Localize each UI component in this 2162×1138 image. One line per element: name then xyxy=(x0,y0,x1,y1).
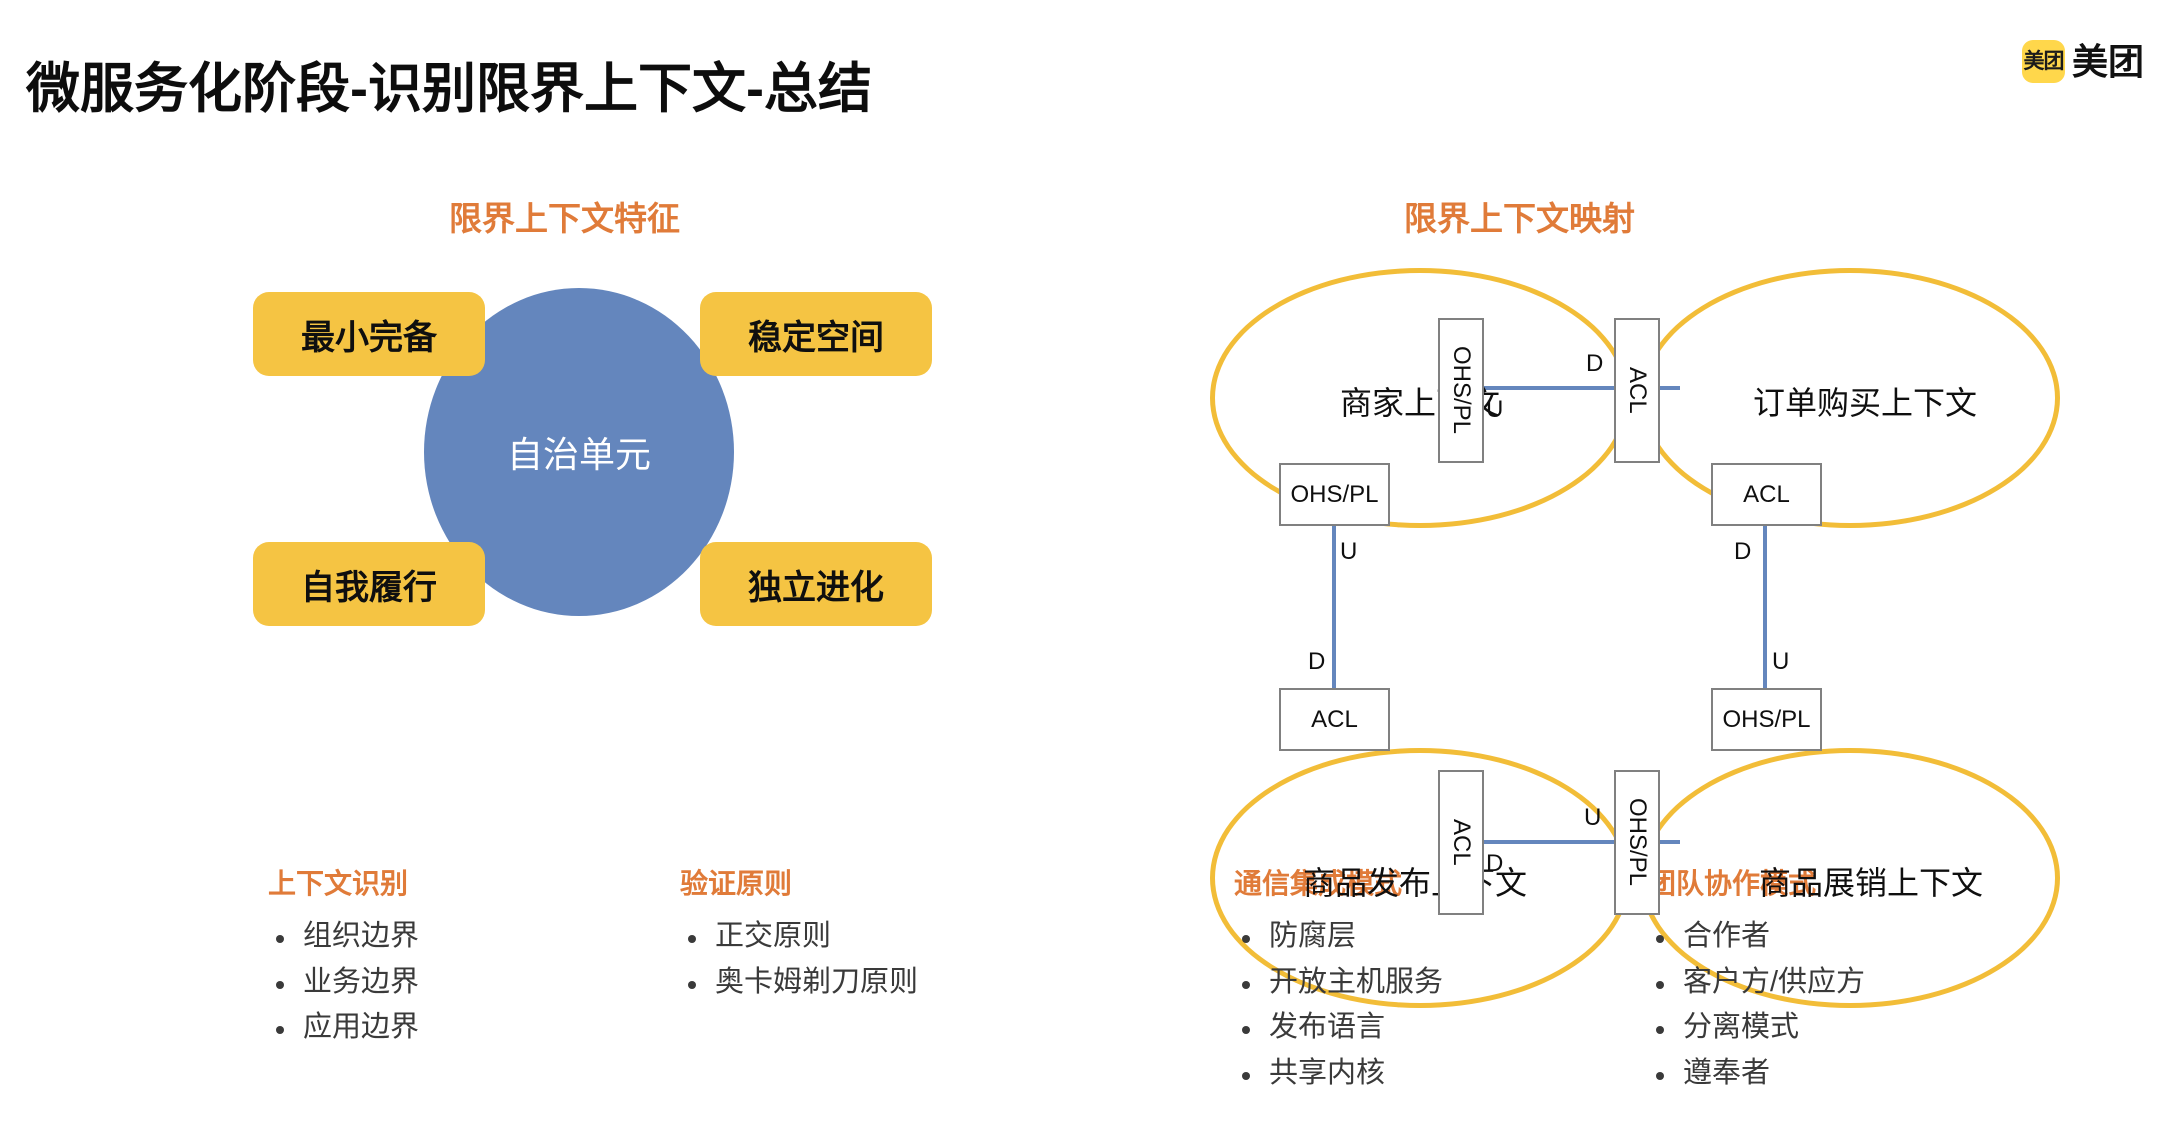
list-items: 合作者 客户方/供应方 分离模式 遵奉者 xyxy=(1648,918,1865,1091)
direction-label-top-d: D xyxy=(1586,350,1603,378)
list-item: 应用边界 xyxy=(268,1009,419,1046)
feature-label: 稳定空间 xyxy=(748,310,884,359)
pattern-box-merchant-right: OHS/PL xyxy=(1438,318,1484,463)
direction-label-bottom-d: D xyxy=(1486,850,1503,878)
pattern-box-order-bottom: ACL xyxy=(1711,463,1822,526)
autonomous-unit-label: 自治单元 xyxy=(507,426,651,478)
list-item: 防腐层 xyxy=(1234,918,1443,955)
context-map-diagram: 商家上下文 订单购买上下文 商品发布上下文 商品展销上下文 OHS/PL ACL… xyxy=(1180,250,1980,700)
left-panel-title: 限界上下文特征 xyxy=(449,192,680,240)
list-item: 客户方/供应方 xyxy=(1648,964,1865,1001)
pattern-box-promo-left: OHS/PL xyxy=(1614,770,1660,915)
pattern-box-order-left: ACL xyxy=(1614,318,1660,463)
context-label-product-promo: 商品展销上下文 xyxy=(1656,858,2086,904)
list-item: 合作者 xyxy=(1648,918,1865,955)
direction-label-right-u: U xyxy=(1772,648,1789,676)
list-item: 发布语言 xyxy=(1234,1009,1443,1046)
list-items: 防腐层 开放主机服务 发布语言 共享内核 xyxy=(1234,918,1443,1091)
list-item: 业务边界 xyxy=(268,964,419,1001)
list-item: 遵奉者 xyxy=(1648,1055,1865,1092)
feature-box-bottom-left: 自我履行 xyxy=(253,542,485,626)
pattern-box-merchant-bottom: OHS/PL xyxy=(1279,463,1390,526)
list-items: 正交原则 奥卡姆剃刀原则 xyxy=(680,918,918,1000)
list-heading: 验证原则 xyxy=(680,862,918,902)
meituan-logo-icon: 美团 xyxy=(2022,40,2065,83)
list-heading: 上下文识别 xyxy=(268,862,419,902)
link-merchant-to-publish xyxy=(1332,522,1336,694)
list-item: 共享内核 xyxy=(1234,1055,1443,1092)
feature-label: 自我履行 xyxy=(301,560,437,609)
list-item: 奥卡姆剃刀原则 xyxy=(680,964,918,1001)
direction-label-left-u: U xyxy=(1340,538,1357,566)
feature-box-top-left: 最小完备 xyxy=(253,292,485,376)
list-item: 开放主机服务 xyxy=(1234,964,1443,1001)
right-panel-title: 限界上下文映射 xyxy=(1404,192,1635,240)
context-label-product-publish: 商品发布上下文 xyxy=(1200,858,1630,904)
pattern-box-promo-top: OHS/PL xyxy=(1711,688,1822,751)
direction-label-right-d: D xyxy=(1734,538,1751,566)
list-item: 分离模式 xyxy=(1648,1009,1865,1046)
context-label-merchant: 商家上下文 xyxy=(1210,378,1630,424)
list-item: 正交原则 xyxy=(680,918,918,955)
direction-label-bottom-u: U xyxy=(1584,804,1601,832)
feature-box-top-right: 稳定空间 xyxy=(700,292,932,376)
list-item: 组织边界 xyxy=(268,918,419,955)
pattern-box-publish-right: ACL xyxy=(1438,770,1484,915)
link-order-to-promo xyxy=(1763,522,1767,694)
page-title: 微服务化阶段-识别限界上下文-总结 xyxy=(26,58,872,120)
feature-label: 最小完备 xyxy=(301,310,437,359)
brand-logo: 美团 美团 xyxy=(2022,40,2144,83)
context-label-order-purchase: 订单购买上下文 xyxy=(1650,378,2080,424)
list-block-context-identification: 上下文识别 组织边界 业务边界 应用边界 xyxy=(268,862,419,1055)
direction-label-left-d: D xyxy=(1308,648,1325,676)
pattern-box-publish-top: ACL xyxy=(1279,688,1390,751)
feature-label: 独立进化 xyxy=(748,560,884,609)
brand-name: 美团 xyxy=(2072,44,2144,80)
list-block-validation-principles: 验证原则 正交原则 奥卡姆剃刀原则 xyxy=(680,862,918,1009)
feature-box-bottom-right: 独立进化 xyxy=(700,542,932,626)
list-items: 组织边界 业务边界 应用边界 xyxy=(268,918,419,1046)
direction-label-top-u: U xyxy=(1486,396,1503,424)
